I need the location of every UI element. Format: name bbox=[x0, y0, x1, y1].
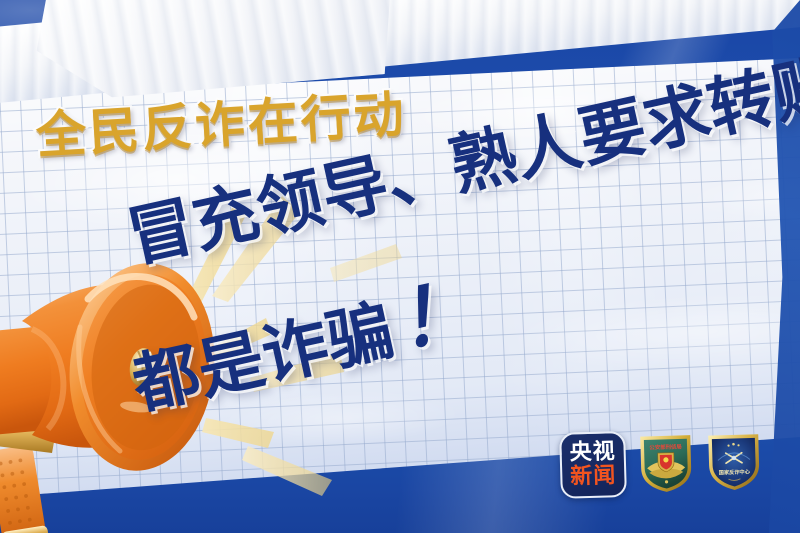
police-badge-logo[interactable]: 公安部刑侦局 bbox=[637, 431, 695, 495]
logo-row: 央视 新闻 公安部刑侦局 bbox=[559, 427, 763, 499]
poster-canvas: 全民反诈在行动 冒充领导、熟人要求转账的 都是诈骗！ 央视 新闻 bbox=[0, 0, 800, 533]
anti-fraud-center-badge-logo[interactable]: 国家反诈中心 bbox=[705, 429, 763, 493]
cctv-news-logo-line1: 央视 bbox=[569, 441, 616, 464]
cctv-news-logo-line2: 新闻 bbox=[570, 465, 617, 488]
cctv-news-logo[interactable]: 央视 新闻 bbox=[559, 431, 627, 499]
